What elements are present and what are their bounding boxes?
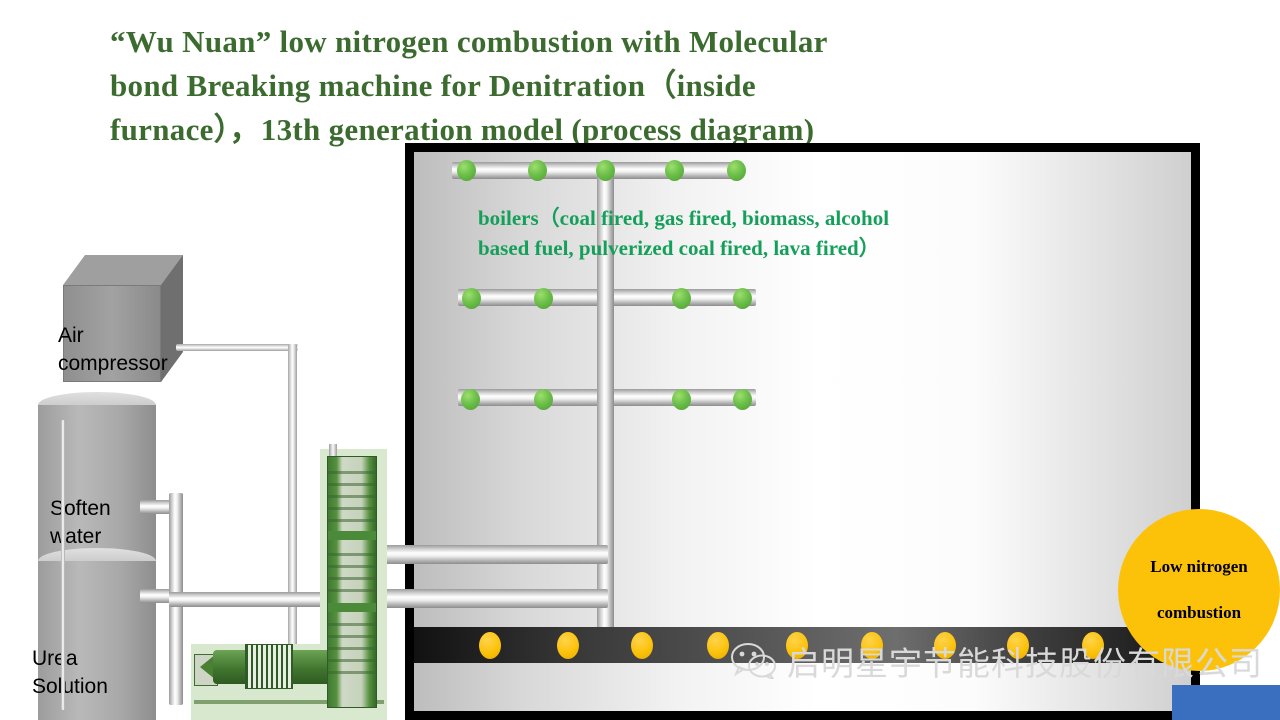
compressor-outlet-pipe [176, 344, 298, 351]
urea-solution-label: Urea Solution [32, 645, 108, 701]
nozzle-dot [672, 288, 691, 309]
flame-dot [479, 632, 501, 659]
supply-pipe-lower [383, 589, 608, 608]
air-compressor-label: Air compressor [58, 322, 168, 378]
urea-label-line-2: Solution [32, 673, 108, 701]
title-line-1: “Wu Nuan” low nitrogen combustion with M… [110, 20, 1120, 64]
nozzle-dot [534, 389, 553, 410]
nozzle-dot [727, 160, 746, 181]
process-diagram-canvas: “Wu Nuan” low nitrogen combustion with M… [0, 0, 1280, 720]
watermark-text: 启明星宇节能科技股份有限公司 [787, 637, 1263, 685]
flame-dot [631, 632, 653, 659]
nozzle-dot [733, 389, 752, 410]
dosing-line-to-machine [169, 592, 329, 607]
air-compressor-label-line-1: Air [58, 322, 168, 350]
boiler-label-line-1: boilers（coal fired, gas fired, biomass, … [478, 203, 1098, 233]
flame-dot [557, 632, 579, 659]
air-compressor-label-line-2: compressor [58, 350, 168, 378]
nozzle-dot [534, 288, 553, 309]
wechat-icon [731, 643, 777, 679]
tank-vent-line [61, 420, 65, 710]
blue-accent-rectangle [1172, 685, 1280, 720]
supply-pipe-upper [383, 545, 608, 564]
badge-line-2: combustion [1157, 603, 1241, 623]
nozzle-dot [462, 288, 481, 309]
page-title: “Wu Nuan” low nitrogen combustion with M… [110, 20, 1120, 152]
urea-label-line-1: Urea [32, 645, 108, 673]
nozzle-dot [461, 389, 480, 410]
machine-mesh-grid [245, 644, 293, 689]
badge-line-1: Low nitrogen [1150, 557, 1247, 577]
soften-water-label-line-2: water [50, 523, 111, 551]
title-line-2: bond Breaking machine for Denitration（in… [110, 64, 1120, 108]
nozzle-dot [733, 288, 752, 309]
soften-water-label: Soften water [50, 495, 111, 551]
nozzle-dot [528, 160, 547, 181]
nozzle-dot [457, 160, 476, 181]
flame-dot [707, 632, 729, 659]
nozzle-dot [596, 160, 615, 181]
soften-water-label-line-1: Soften [50, 495, 111, 523]
nozzle-dot [672, 389, 691, 410]
watermark: 启明星宇节能科技股份有限公司 [731, 637, 1263, 685]
boiler-label-line-2: based fuel, pulverized coal fired, lava … [478, 233, 1098, 263]
boiler-types-label: boilers（coal fired, gas fired, biomass, … [478, 203, 1098, 264]
nozzle-dot [665, 160, 684, 181]
molecular-bond-breaking-reactor [327, 456, 377, 708]
